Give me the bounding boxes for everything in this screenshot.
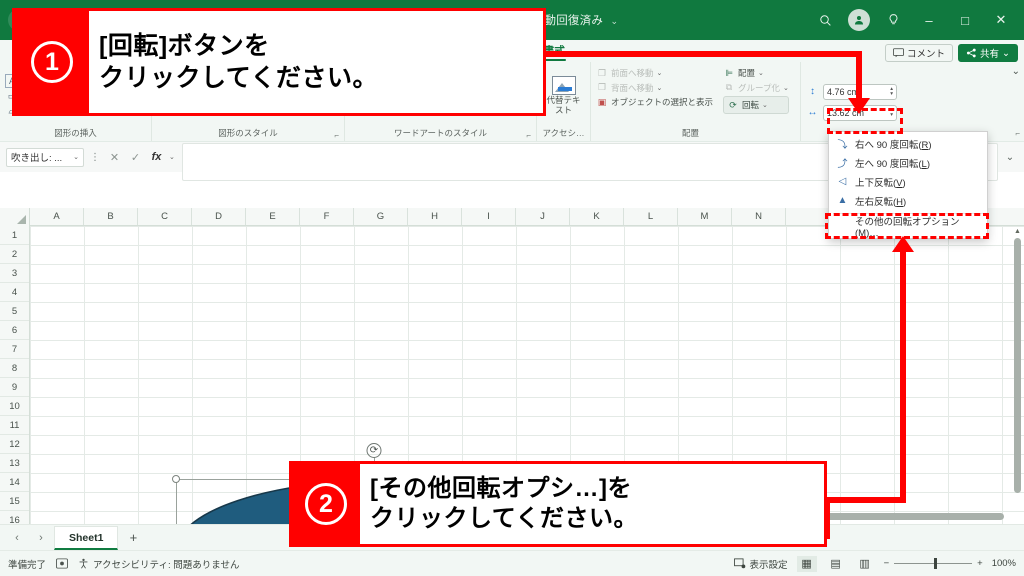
column-header-N[interactable]: N <box>732 208 786 225</box>
row-header-15[interactable]: 15 <box>0 492 29 511</box>
column-header-E[interactable]: E <box>246 208 300 225</box>
send-backward-icon: ❐ <box>596 82 608 94</box>
align-button[interactable]: ⊫ 配置 ⌄ <box>723 67 789 79</box>
menu-item-rotate-right-90[interactable]: ⤵ 右へ 90 度回転(R) <box>829 134 987 153</box>
accessibility-icon <box>78 558 89 569</box>
rotate-button[interactable]: ⟳ 回転 ⌄ <box>723 96 789 114</box>
share-chevron-down-icon[interactable]: ⌄ <box>1002 48 1010 59</box>
column-header-A[interactable]: A <box>30 208 84 225</box>
zoom-slider[interactable]: − + <box>884 558 983 569</box>
name-box-value: 吹き出し: ... <box>11 150 73 164</box>
group-label-shape-styles: 図形のスタイル ⌐ <box>157 127 339 141</box>
zoom-thumb[interactable] <box>934 558 937 569</box>
rotate-left-90-icon: ⤴ <box>836 155 849 170</box>
alt-text-button[interactable]: 代替テキスト <box>543 76 585 116</box>
group-label-wordart-styles: ワードアートのスタイル ⌐ <box>350 127 531 141</box>
arrow2-horizontal <box>824 497 906 503</box>
row-header-1[interactable]: 1 <box>0 226 29 245</box>
callout-1-line2: クリックしてください。 <box>99 62 535 94</box>
status-bar: 準備完了 アクセシビリティ: 問題ありません 表示設定 ▦ ▤ ▥ − + 10… <box>0 550 1024 576</box>
callout-step-1: 1 [回転]ボタンを クリックしてください。 <box>12 8 546 116</box>
comments-button[interactable]: コメント <box>885 44 953 62</box>
accessibility-status[interactable]: アクセシビリティ: 問題ありません <box>78 557 239 571</box>
flip-horizontal-icon: ▲ <box>836 195 849 206</box>
rotate-dropdown-menu: ⤵ 右へ 90 度回転(R) ⤴ 左へ 90 度回転(L) ◁ 上下反転(V) … <box>828 131 988 239</box>
insert-function-icon[interactable]: fx <box>148 151 165 163</box>
page-break-preview-icon[interactable]: ▥ <box>855 556 875 572</box>
excel-window: ⬤ 🖫 ↺ ↻ Book1 - Workbook.xlsb - 自動回復済み ⌄… <box>0 0 1024 576</box>
shape-styles-dialog-launcher-icon[interactable]: ⌐ <box>334 131 339 140</box>
row-header-6[interactable]: 6 <box>0 321 29 340</box>
rotate-label: 回転 <box>742 99 759 111</box>
rotate-icon: ⟳ <box>727 99 739 111</box>
group-label-insert-shapes: 図形の挿入 <box>5 127 146 141</box>
group-label-accessibility: アクセシ… <box>542 127 585 141</box>
arrow1-vertical <box>856 51 862 101</box>
page-layout-icon[interactable]: ▤ <box>826 556 846 572</box>
size-dialog-launcher-icon[interactable]: ⌐ <box>1015 129 1020 138</box>
callout-2-line2: クリックしてください。 <box>370 504 816 534</box>
maximize-button[interactable]: □ <box>948 5 982 35</box>
accessibility-label: アクセシビリティ: 問題ありません <box>93 557 239 571</box>
row-header-12[interactable]: 12 <box>0 435 29 454</box>
normal-view-icon[interactable]: ▦ <box>797 556 817 572</box>
row-header-2[interactable]: 2 <box>0 245 29 264</box>
name-box-chevron-icon[interactable]: ⌄ <box>73 153 79 161</box>
group-label: グループ化 <box>738 82 780 94</box>
send-backward-button[interactable]: ❐ 背面へ移動 ⌄ <box>596 82 713 94</box>
column-header-G[interactable]: G <box>354 208 408 225</box>
column-header-D[interactable]: D <box>192 208 246 225</box>
selection-pane-button[interactable]: ▣ オブジェクトの選択と表示 <box>596 96 713 108</box>
callout-step-2: 2 [その他回転オプシ…]を クリックしてください。 <box>289 461 827 547</box>
height-icon: ↕ <box>806 85 819 98</box>
selection-pane-icon: ▣ <box>596 96 608 108</box>
row-header-3[interactable]: 3 <box>0 264 29 283</box>
arrow1-head <box>848 98 870 114</box>
zoom-in-button[interactable]: + <box>977 558 983 569</box>
row-header-8[interactable]: 8 <box>0 359 29 378</box>
column-header-J[interactable]: J <box>516 208 570 225</box>
width-icon: ↔ <box>806 106 819 119</box>
group-icon: ⧉ <box>723 82 735 94</box>
row-header-10[interactable]: 10 <box>0 397 29 416</box>
avatar <box>848 9 870 31</box>
row-header-7[interactable]: 7 <box>0 340 29 359</box>
send-backward-chevron-icon[interactable]: ⌄ <box>657 84 663 92</box>
bring-forward-button[interactable]: ❐ 前面へ移動 ⌄ <box>596 67 713 79</box>
alt-text-label: 代替テキスト <box>543 96 585 116</box>
enter-formula-icon[interactable]: ✓ <box>127 151 144 164</box>
title-chevron-down-icon[interactable]: ⌄ <box>610 16 618 26</box>
arrow1-horizontal <box>546 51 862 57</box>
alt-text-icon <box>552 76 576 95</box>
lightbulb-icon[interactable] <box>876 5 910 35</box>
minimize-button[interactable]: – <box>912 5 946 35</box>
record-macro-icon[interactable] <box>56 558 68 569</box>
row-header-9[interactable]: 9 <box>0 378 29 397</box>
rotate-chevron-down-icon[interactable]: ⌄ <box>762 101 768 109</box>
column-header-C[interactable]: C <box>138 208 192 225</box>
sheet-prev-icon[interactable]: ‹ <box>6 532 28 544</box>
callout-2-number-text: 2 <box>305 483 347 525</box>
group-arrange: ❐ 前面へ移動 ⌄ ❐ 背面へ移動 ⌄ ▣ オブジェクトの選択と表示 <box>591 62 801 141</box>
arrow2-head <box>892 236 914 252</box>
column-header-F[interactable]: F <box>300 208 354 225</box>
row-header-5[interactable]: 5 <box>0 302 29 321</box>
menu-item-flip-vertical[interactable]: ◁ 上下反転(V) <box>829 172 987 191</box>
ribbon-collapse-chevron-icon[interactable]: ⌄ <box>1012 66 1020 77</box>
group-label-shape-styles-text: 図形のスタイル <box>218 128 278 138</box>
row-header-14[interactable]: 14 <box>0 473 29 492</box>
ribbon-action-buttons: コメント 共有 ⌄ <box>885 44 1018 62</box>
align-chevron-icon[interactable]: ⌄ <box>758 69 764 77</box>
align-icon: ⊫ <box>723 67 735 79</box>
status-bar-right: 表示設定 ▦ ▤ ▥ − + 100% <box>734 556 1016 572</box>
flip-vertical-icon: ◁ <box>836 176 849 187</box>
display-settings-button[interactable]: 表示設定 <box>734 557 788 571</box>
vertical-scrollbar[interactable]: ▲ <box>1013 228 1022 520</box>
formula-fx-chevron-icon[interactable]: ⌄ <box>169 153 175 161</box>
bring-forward-label: 前面へ移動 <box>611 67 654 79</box>
row-header-11[interactable]: 11 <box>0 416 29 435</box>
send-backward-label: 背面へ移動 <box>611 82 654 94</box>
sheet-next-icon[interactable]: › <box>30 532 52 544</box>
search-icon[interactable] <box>808 5 842 35</box>
zoom-track[interactable] <box>894 563 972 564</box>
arrange-align-column: ⊫ 配置 ⌄ ⧉ グループ化 ⌄ ⟳ 回転 ⌄ <box>723 67 789 114</box>
callout-1-text: [回転]ボタンを クリックしてください。 <box>89 11 543 113</box>
zoom-level-label[interactable]: 100% <box>992 558 1016 569</box>
column-header-B[interactable]: B <box>84 208 138 225</box>
menu-item-flip-horizontal[interactable]: ▲ 左右反転(H) <box>829 191 987 210</box>
group-chevron-icon[interactable]: ⌄ <box>783 84 789 92</box>
cancel-formula-icon[interactable]: ✕ <box>106 151 123 164</box>
height-spinner-icon[interactable]: ▴▾ <box>890 87 893 97</box>
ribbon-right-controls: ⌄ ⌐ <box>1010 62 1024 141</box>
selection-pane-label: オブジェクトの選択と表示 <box>611 96 713 108</box>
menu-item-flip-vertical-label: 上下反転(V) <box>855 175 906 189</box>
status-state: 準備完了 <box>8 557 46 571</box>
window-controls: – □ ✕ <box>808 5 1024 35</box>
share-button[interactable]: 共有 ⌄ <box>958 44 1018 62</box>
scroll-up-icon[interactable]: ▲ <box>1013 228 1022 235</box>
group-label-wordart-styles-text: ワードアートのスタイル <box>394 128 487 138</box>
wordart-dialog-launcher-icon[interactable]: ⌐ <box>526 131 531 140</box>
account-avatar[interactable] <box>844 8 874 32</box>
arrange-order-column: ❐ 前面へ移動 ⌄ ❐ 背面へ移動 ⌄ ▣ オブジェクトの選択と表示 <box>596 67 713 108</box>
bring-forward-icon: ❐ <box>596 67 608 79</box>
close-button[interactable]: ✕ <box>984 5 1018 35</box>
callout-1-number: 1 <box>15 11 89 113</box>
group-button[interactable]: ⧉ グループ化 ⌄ <box>723 82 789 94</box>
formula-bar-expand-icon[interactable]: ⌄ <box>1002 152 1018 163</box>
callout-2-text: [その他回転オプシ…]を クリックしてください。 <box>360 464 824 544</box>
display-settings-label: 表示設定 <box>750 557 788 571</box>
rotate-handle-icon[interactable]: ⟳ <box>367 443 382 458</box>
menu-item-rotate-right-90-label: 右へ 90 度回転(R) <box>855 137 932 151</box>
add-sheet-button[interactable]: + <box>120 530 146 545</box>
menu-item-rotate-left-90[interactable]: ⤴ 左へ 90 度回転(L) <box>829 153 987 172</box>
menu-item-rotate-left-90-label: 左へ 90 度回転(L) <box>855 156 930 170</box>
menu-item-flip-horizontal-label: 左右反転(H) <box>855 194 906 208</box>
sheet-tab-sheet1[interactable]: Sheet1 <box>54 526 118 550</box>
column-header-L[interactable]: L <box>624 208 678 225</box>
resize-handle-nw[interactable] <box>172 475 180 483</box>
row-header-13[interactable]: 13 <box>0 454 29 473</box>
group-label-arrange: 配置 <box>596 127 795 141</box>
name-box[interactable]: 吹き出し: ... ⌄ <box>6 148 84 167</box>
share-label: 共有 <box>980 46 999 60</box>
bring-forward-chevron-icon[interactable]: ⌄ <box>657 69 663 77</box>
comments-label: コメント <box>907 46 945 60</box>
align-label: 配置 <box>738 67 755 79</box>
select-all-corner[interactable] <box>0 208 30 226</box>
row-header-4[interactable]: 4 <box>0 283 29 302</box>
arrow2-vertical-long <box>900 252 906 501</box>
formula-bar-overflow-icon[interactable]: ⋮ <box>88 152 102 163</box>
width-spinner-icon[interactable]: ▴▾ <box>890 108 893 118</box>
zoom-out-button[interactable]: − <box>884 558 890 569</box>
callout-1-line1: [回転]ボタンを <box>99 30 535 62</box>
rotate-right-90-icon: ⤵ <box>836 136 849 151</box>
column-header-H[interactable]: H <box>408 208 462 225</box>
menu-item-more-rotation-options[interactable]: その他の回転オプション(M)… <box>829 217 987 236</box>
callout-2-number: 2 <box>292 464 360 544</box>
column-header-K[interactable]: K <box>570 208 624 225</box>
column-header-I[interactable]: I <box>462 208 516 225</box>
callout-1-number-text: 1 <box>31 41 73 83</box>
callout-2-line1: [その他回転オプシ…]を <box>370 474 816 504</box>
vertical-scroll-thumb[interactable] <box>1014 238 1021 493</box>
column-header-M[interactable]: M <box>678 208 732 225</box>
row-headers: 1 2 3 4 5 6 7 8 9 10 11 12 13 14 15 16 <box>0 226 30 524</box>
